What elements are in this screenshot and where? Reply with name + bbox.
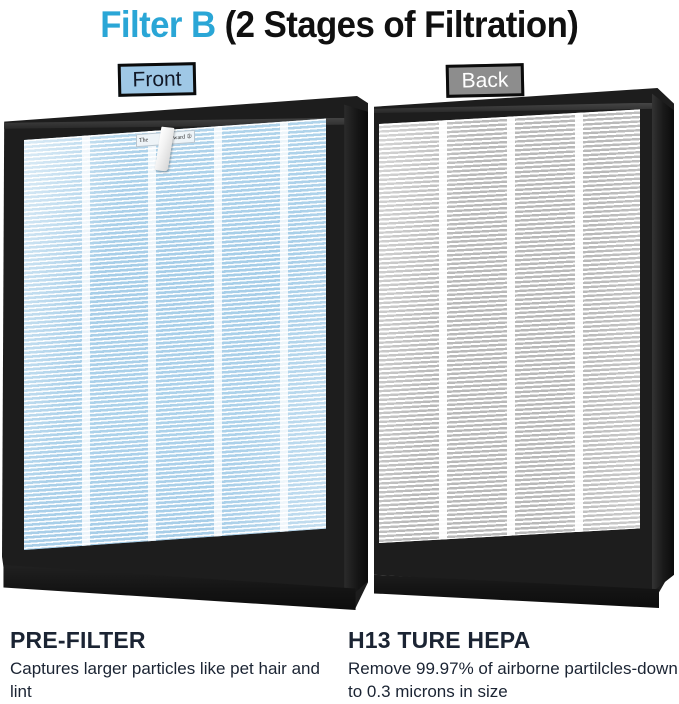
airflow-label-left: The: [139, 134, 148, 147]
caption-pre-filter: PRE-FILTER Captures larger particles lik…: [10, 628, 330, 704]
back-badge-label: Back: [461, 70, 508, 92]
hepa-filter-side-face: [652, 93, 675, 597]
hepa-filter-back-panel: [374, 88, 674, 608]
front-badge: Front: [118, 62, 197, 97]
caption-pre-filter-body: Captures larger particles like pet hair …: [10, 658, 330, 704]
back-badge: Back: [446, 63, 525, 98]
airflow-label-right: rward ②: [171, 130, 192, 144]
caption-hepa-filter-body: Remove 99.97% of airborne partilcles-dow…: [348, 658, 679, 704]
pre-filter-side-face: [344, 99, 368, 606]
front-badge-label: Front: [132, 68, 181, 90]
pre-filter-front-panel: The rward ②: [2, 96, 368, 608]
caption-hepa-filter: H13 TURE HEPA Remove 99.97% of airborne …: [348, 628, 679, 704]
product-image-stage: The rward ② Front Back: [0, 0, 679, 702]
pre-filter-media: [24, 119, 326, 550]
caption-hepa-filter-title: H13 TURE HEPA: [348, 628, 679, 652]
caption-pre-filter-title: PRE-FILTER: [10, 628, 330, 652]
hepa-filter-media: [379, 110, 640, 543]
